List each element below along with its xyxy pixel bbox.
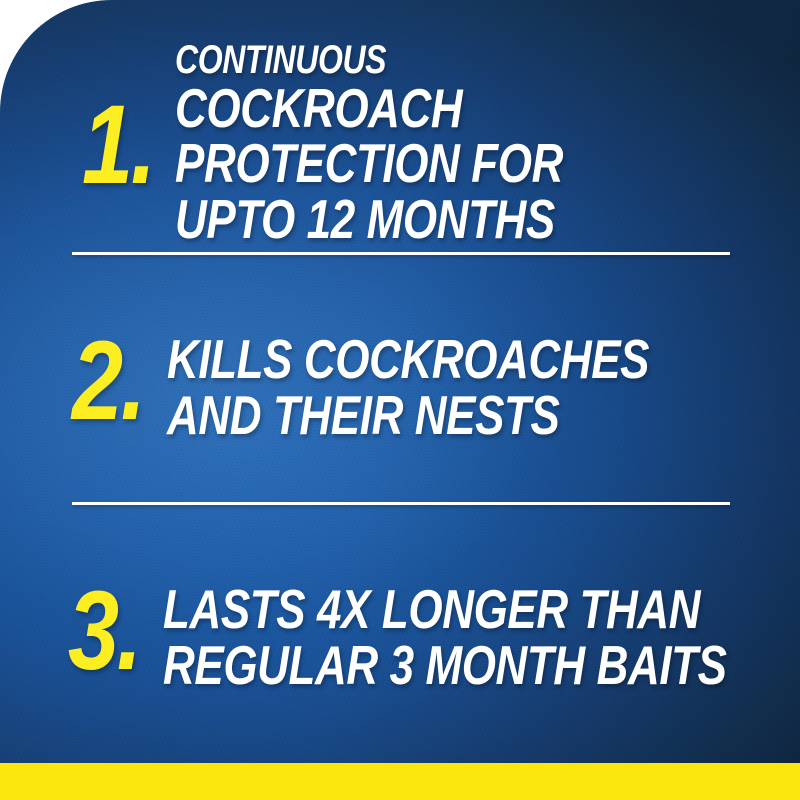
- benefit-item-2: 2. KILLS COCKROACHES AND THEIR NESTS: [72, 330, 770, 443]
- benefit-3-line-1: LASTS 4X LONGER THAN: [163, 582, 727, 638]
- benefit-number-3: 3.: [68, 582, 140, 681]
- benefit-1-line-4: UPTO 12 MONTHS: [175, 192, 563, 248]
- divider-line-2: [72, 502, 730, 505]
- benefit-number-1: 1.: [82, 96, 154, 195]
- benefit-3-line-2: REGULAR 3 MONTH BAITS: [163, 638, 727, 694]
- benefit-1-line-3: PROTECTION FOR: [175, 136, 563, 192]
- benefit-item-3: 3. LASTS 4X LONGER THAN REGULAR 3 MONTH …: [68, 580, 800, 693]
- benefit-item-1: 1. CONTINUOUS COCKROACH PROTECTION FOR U…: [82, 38, 660, 247]
- divider-line-1: [72, 252, 730, 255]
- benefits-content: 1. CONTINUOUS COCKROACH PROTECTION FOR U…: [0, 0, 800, 800]
- benefit-2-line-2: AND THEIR NESTS: [167, 388, 649, 444]
- benefit-text-2: KILLS COCKROACHES AND THEIR NESTS: [167, 330, 770, 443]
- benefit-1-line-1: CONTINUOUS: [175, 40, 563, 81]
- benefit-text-3: LASTS 4X LONGER THAN REGULAR 3 MONTH BAI…: [163, 580, 800, 693]
- benefit-1-line-2: COCKROACH: [175, 81, 563, 137]
- benefit-number-2: 2.: [72, 332, 144, 431]
- benefits-poster: 1. CONTINUOUS COCKROACH PROTECTION FOR U…: [0, 0, 800, 800]
- benefit-text-1: CONTINUOUS COCKROACH PROTECTION FOR UPTO…: [175, 38, 660, 247]
- benefit-2-line-1: KILLS COCKROACHES: [167, 332, 649, 388]
